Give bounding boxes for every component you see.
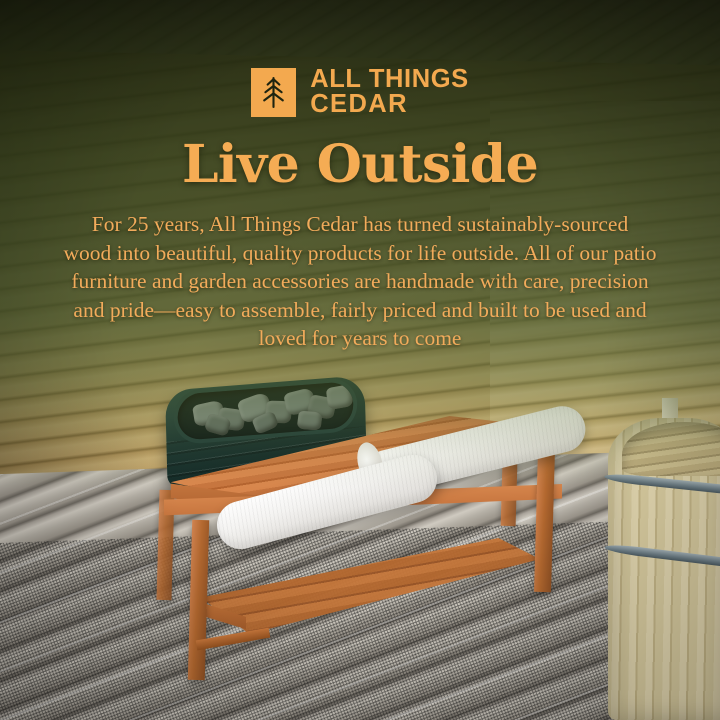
- ad-canvas: ALL THINGS CEDAR Live Outside For 25 yea…: [0, 0, 720, 720]
- brand-name-line-2: CEDAR: [310, 92, 469, 117]
- wooden-barrel: [608, 418, 720, 720]
- pine-tree-icon: [251, 68, 296, 117]
- body-line: and pride—easy to assemble, fairly price…: [63, 296, 657, 325]
- bench-leg-front-left: [188, 520, 209, 680]
- body-line: wood into beautiful, quality products fo…: [63, 239, 657, 268]
- cedar-bench: [150, 398, 580, 690]
- bench-leg-front-right: [534, 450, 555, 592]
- hero-content: ALL THINGS CEDAR Live Outside For 25 yea…: [0, 0, 720, 353]
- brand-name-line-1: ALL THINGS: [310, 67, 469, 92]
- brand-lockup[interactable]: ALL THINGS CEDAR: [0, 66, 720, 118]
- body-line: For 25 years, All Things Cedar has turne…: [63, 210, 657, 239]
- body-line: furniture and garden accessories are han…: [63, 267, 657, 296]
- hero-body-copy: For 25 years, All Things Cedar has turne…: [63, 210, 657, 353]
- body-line: loved for years to come: [63, 324, 657, 353]
- bench-stretcher: [196, 628, 271, 651]
- brand-wordmark: ALL THINGS CEDAR: [310, 67, 469, 117]
- barrel-interior: [622, 422, 720, 476]
- barrel-band-lower: [604, 543, 720, 570]
- page-title: Live Outside: [0, 136, 720, 194]
